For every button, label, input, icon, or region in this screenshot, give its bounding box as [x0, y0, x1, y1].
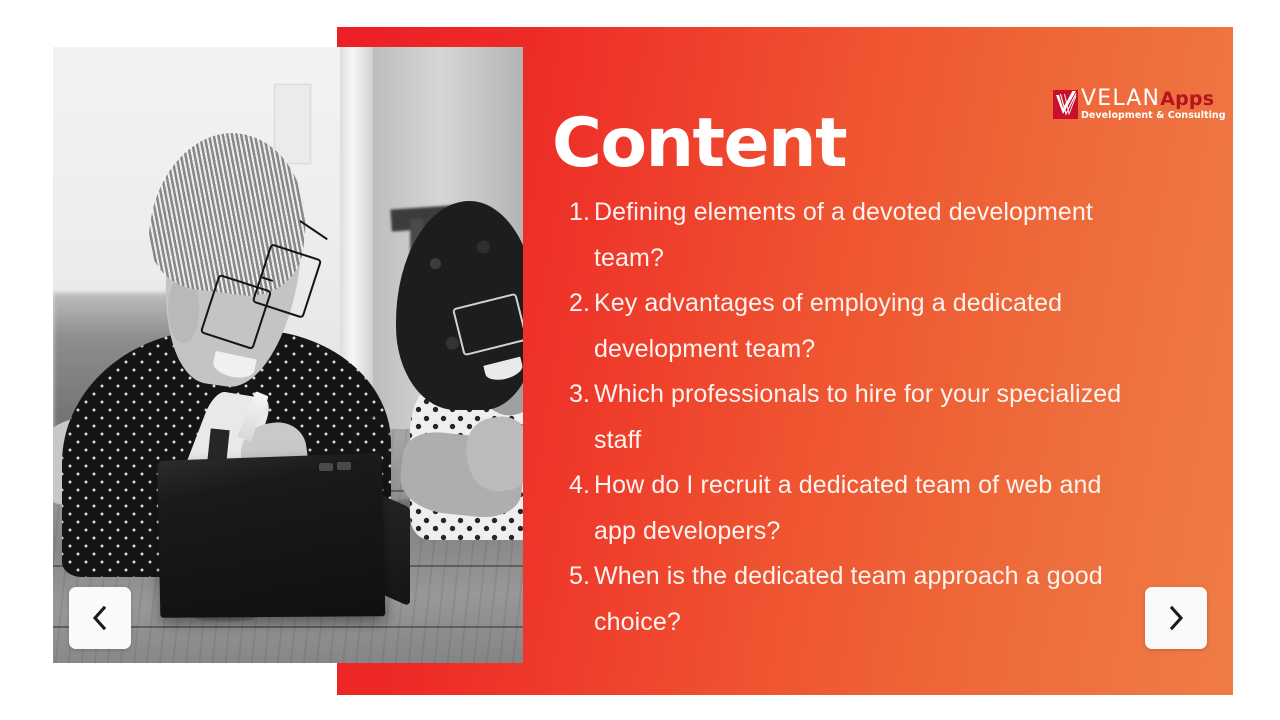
logo-name-secondary: Apps	[1160, 90, 1214, 109]
list-item-number: 1.	[560, 190, 590, 236]
photo-canvas	[53, 47, 523, 663]
list-item-number: 5.	[560, 554, 590, 600]
content-list: 1. Defining elements of a devoted develo…	[560, 190, 1140, 645]
list-item-number: 4.	[560, 463, 590, 509]
list-item: 1. Defining elements of a devoted develo…	[560, 190, 1140, 281]
list-item-number: 2.	[560, 281, 590, 327]
page-title: Content	[552, 110, 846, 178]
logo-wordmark: VELANApps	[1081, 88, 1226, 110]
logo-text-block: VELANApps Development & Consulting	[1081, 88, 1226, 121]
logo-name-primary: VELAN	[1081, 88, 1160, 110]
list-item-text: When is the dedicated team approach a go…	[594, 554, 1140, 645]
photo-tablet	[158, 453, 386, 618]
list-item-text: Key advantages of employing a dedicated …	[594, 281, 1140, 372]
chevron-left-icon	[89, 605, 111, 631]
slide-root: Content 1. Defining elements of a devote…	[0, 0, 1280, 720]
list-item-text: Which professionals to hire for your spe…	[594, 372, 1140, 463]
list-item: 2. Key advantages of employing a dedicat…	[560, 281, 1140, 372]
photo-background-switch	[274, 84, 312, 164]
list-item: 5. When is the dedicated team approach a…	[560, 554, 1140, 645]
photo-tablet-button	[337, 462, 351, 470]
brand-logo: VELANApps Development & Consulting	[1053, 88, 1226, 121]
list-item-number: 3.	[560, 372, 590, 418]
hero-photo	[53, 47, 523, 663]
list-item: 3. Which professionals to hire for your …	[560, 372, 1140, 463]
list-item: 4. How do I recruit a dedicated team of …	[560, 463, 1140, 554]
list-item-text: How do I recruit a dedicated team of web…	[594, 463, 1140, 554]
velan-checkmark-logo-icon	[1053, 90, 1078, 119]
list-item-text: Defining elements of a devoted developme…	[594, 190, 1140, 281]
photo-tablet-button	[319, 463, 333, 471]
next-slide-button[interactable]	[1145, 587, 1207, 649]
chevron-right-icon	[1165, 605, 1187, 631]
prev-slide-button[interactable]	[69, 587, 131, 649]
logo-tagline: Development & Consulting	[1081, 111, 1226, 121]
